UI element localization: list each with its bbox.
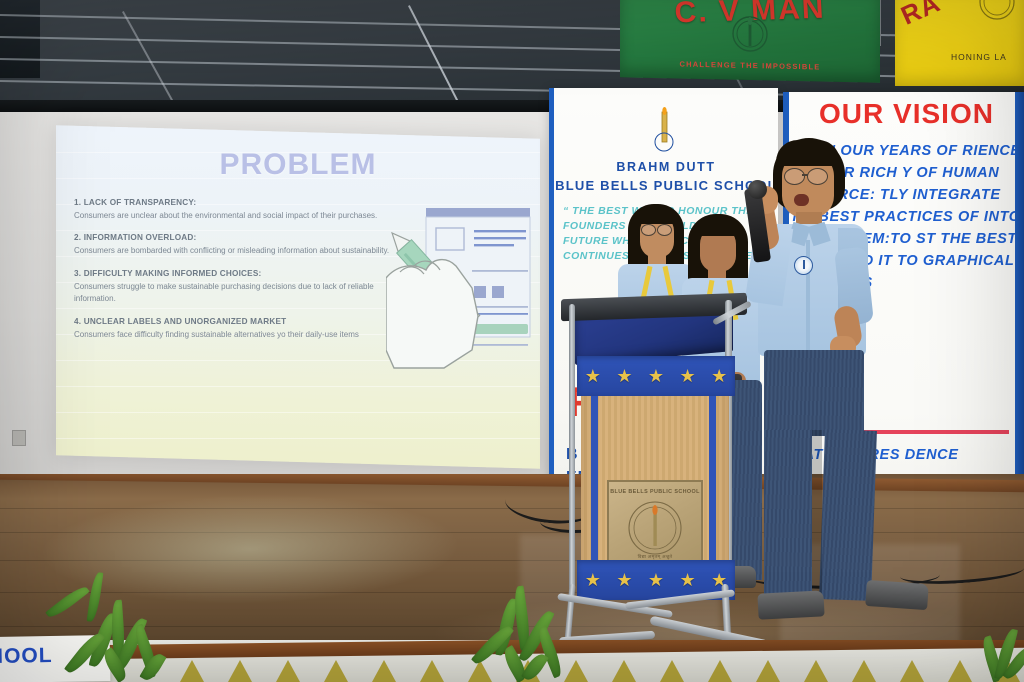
list-item: 4. UNCLEAR LABELS AND UNORGANIZED MARKET…	[74, 317, 392, 341]
podium-leg	[564, 584, 575, 642]
podium-body: ★ ★ ★ ★ ★ BLUE BELLS PUBLIC SCHOOL विद्य…	[581, 358, 729, 586]
school-logo-icon	[630, 106, 702, 158]
podium-plaque: BLUE BELLS PUBLIC SCHOOL विद्या अमृतम् अ…	[607, 480, 703, 570]
shoe	[757, 590, 824, 619]
bullet-heading: 1. LACK OF TRANSPARENCY:	[74, 198, 392, 207]
star-icon: ★	[680, 367, 696, 385]
ceiling-panel	[0, 0, 40, 78]
podium-star-band-top: ★ ★ ★ ★ ★	[577, 356, 735, 396]
bullet-body: Consumers are bombarded with conflicting…	[74, 245, 392, 257]
star-icon: ★	[680, 571, 696, 589]
plaque-school-name: BLUE BELLS PUBLIC SCHOOL	[609, 489, 701, 495]
school-name-line1: BRAHM DUTT	[554, 160, 778, 174]
list-item: 1. LACK OF TRANSPARENCY: Consumers are u…	[74, 198, 392, 222]
star-icon: ★	[711, 367, 727, 385]
school-crest-icon	[794, 256, 813, 275]
bullet-body: Consumers struggle to make sustainable p…	[74, 281, 392, 306]
photo-scene: PROBLEM 1. LACK OF TRANSPARENCY: Consume…	[0, 0, 1024, 682]
star-icon: ★	[616, 367, 632, 385]
hand-with-pencil-icon	[386, 200, 534, 400]
slide-title: PROBLEM	[56, 148, 540, 182]
star-icon: ★	[616, 571, 632, 589]
projector-screen: PROBLEM 1. LACK OF TRANSPARENCY: Consume…	[56, 125, 540, 469]
bullet-heading: 4. UNCLEAR LABELS AND UNORGANIZED MARKET	[74, 317, 392, 326]
podium: ★ ★ ★ ★ ★ BLUE BELLS PUBLIC SCHOOL विद्य…	[563, 296, 749, 646]
list-item: 2. INFORMATION OVERLOAD: Consumers are b…	[74, 233, 392, 257]
sign-text: HOOL	[0, 644, 53, 669]
flag-green-motto: CHALLENGE THE IMPOSSIBLE	[620, 58, 880, 72]
star-icon: ★	[648, 571, 664, 589]
flag-yellow-house: RA HONING LA	[895, 0, 1024, 86]
star-icon: ★	[585, 367, 601, 385]
glasses-icon	[807, 168, 828, 185]
flag-yellow-motto: HONING LA	[951, 52, 1007, 62]
bullet-heading: 3. DIFFICULTY MAKING INFORMED CHOICES:	[74, 269, 392, 278]
bullet-heading: 2. INFORMATION OVERLOAD:	[74, 233, 392, 242]
list-item: 3. DIFFICULTY MAKING INFORMED CHOICES: C…	[74, 269, 392, 306]
microphone-head	[748, 180, 767, 199]
star-icon: ★	[648, 367, 664, 385]
star-icon: ★	[585, 571, 601, 589]
slide-bullet-list: 1. LACK OF TRANSPARENCY: Consumers are u…	[74, 198, 392, 352]
flag-yellow-emblem-icon	[974, 0, 1020, 28]
wall-socket	[12, 430, 26, 446]
glasses-icon	[657, 224, 672, 236]
glasses-icon	[784, 168, 805, 185]
shoe	[865, 580, 929, 610]
podium-frame-left	[569, 304, 575, 590]
bullet-body: Consumers face difficulty finding sustai…	[74, 329, 392, 341]
glasses-icon	[641, 224, 656, 236]
flag-green-emblem-icon	[724, 13, 776, 54]
banner-title: OUR VISION	[789, 98, 1024, 130]
flag-yellow-label: RA	[896, 0, 945, 32]
bullet-body: Consumers are unclear about the environm…	[74, 210, 392, 222]
flag-green-cv-raman: C. V MAN CHALLENGE THE IMPOSSIBLE	[620, 0, 880, 83]
